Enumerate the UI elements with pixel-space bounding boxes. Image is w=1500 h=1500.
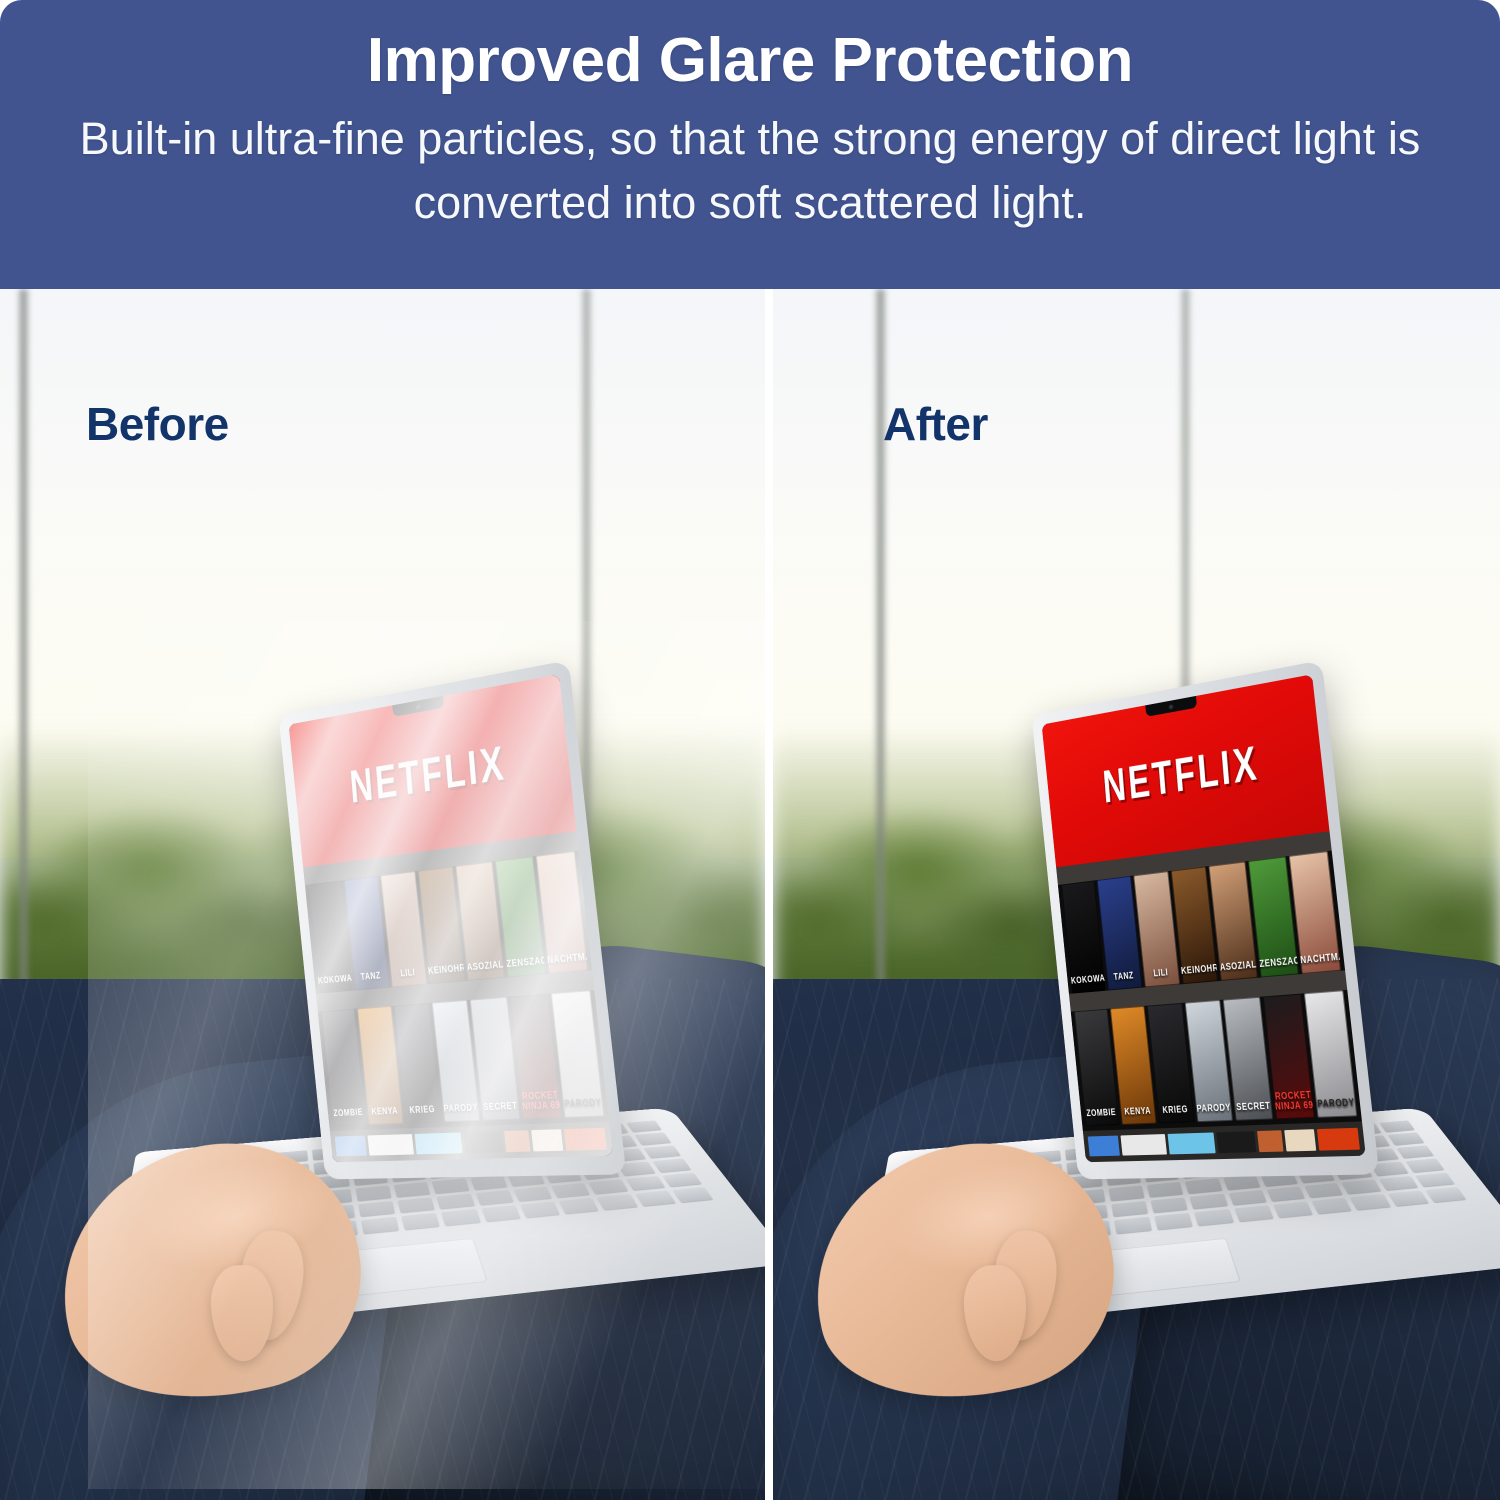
- page-subtitle: Built-in ultra-fine particles, so that t…: [50, 107, 1450, 235]
- movie-tile-label: LILI: [1143, 967, 1179, 980]
- movie-tile-label: SECRET: [481, 1101, 519, 1113]
- movie-tile-label: PARODY: [1316, 1097, 1357, 1109]
- header-banner: Improved Glare Protection Built-in ultra…: [0, 0, 1500, 289]
- screen-bezel: NETFLIX KOKOWAAH TANZ LILI KEINOHR ASOZI…: [1042, 674, 1366, 1162]
- laptop-after: NETFLIX KOKOWAAH TANZ LILI KEINOHR ASOZI…: [903, 677, 1500, 1377]
- movie-row-2: ZOMBIE KENYA KRIEG PARODY SECRET ROCKET …: [318, 990, 609, 1127]
- laptop-lid: NETFLIX KOKOWAAH TANZ LILI KEINOHR ASOZI…: [279, 660, 627, 1179]
- screen-bezel: NETFLIX KOKOWAAH TANZ LILI KEINOHR ASOZI…: [289, 674, 613, 1162]
- panel-divider: [765, 289, 773, 1500]
- movie-tile-label: TANZ: [353, 970, 388, 983]
- movie-tile-label: ZENSZACK: [506, 956, 545, 969]
- before-panel: NETFLIX KOKOWAAH TANZ LILI KEINOHR ASOZI…: [0, 289, 765, 1500]
- taskbar: [1083, 1121, 1366, 1162]
- movie-tile-label: NACHTMAHR: [1300, 952, 1340, 966]
- before-label: Before: [86, 397, 229, 451]
- netflix-screen-after: NETFLIX KOKOWAAH TANZ LILI KEINOHR ASOZI…: [1042, 674, 1366, 1162]
- movie-tile-label: KRIEG: [404, 1104, 440, 1115]
- movie-tile-label: KEINOHR: [1181, 963, 1218, 976]
- netflix-screen-before: NETFLIX KOKOWAAH TANZ LILI KEINOHR ASOZI…: [289, 674, 613, 1162]
- netflix-logo: NETFLIX: [1100, 734, 1260, 814]
- page-title: Improved Glare Protection: [367, 26, 1133, 95]
- after-panel: NETFLIX KOKOWAAH TANZ LILI KEINOHR ASOZI…: [773, 289, 1500, 1500]
- laptop-lid: NETFLIX KOKOWAAH TANZ LILI KEINOHR ASOZI…: [1032, 660, 1380, 1179]
- movie-tile-label: ZOMBIE: [1084, 1107, 1118, 1118]
- movie-tile-label: KENYA: [367, 1106, 402, 1117]
- movie-tile-label: KEINOHR: [428, 963, 465, 976]
- taskbar: [330, 1121, 613, 1162]
- movie-tile-label: KRIEG: [1157, 1104, 1193, 1115]
- movie-tile-label: NACHTMAHR: [547, 952, 587, 966]
- product-feature-image: Improved Glare Protection Built-in ultra…: [0, 0, 1500, 1500]
- movie-tile-label: SECRET: [1234, 1101, 1272, 1113]
- movie-tile-label: PARODY: [1195, 1103, 1232, 1114]
- movie-tile-label: ZOMBIE: [331, 1107, 365, 1118]
- movie-tile-label: TANZ: [1106, 970, 1141, 983]
- movie-tile-label: ROCKET NINJA 69: [520, 1090, 561, 1112]
- movie-tile-label: ZENSZACK: [1259, 956, 1298, 969]
- movie-row-2: ZOMBIE KENYA KRIEG PARODY SECRET ROCKET …: [1071, 990, 1362, 1127]
- movie-tile-label: KOKOWAAH: [1071, 974, 1105, 986]
- netflix-logo: NETFLIX: [347, 734, 507, 814]
- finger: [210, 1264, 275, 1362]
- before-after-comparison: NETFLIX KOKOWAAH TANZ LILI KEINOHR ASOZI…: [0, 289, 1500, 1500]
- movie-tile-label: ASOZIAL: [466, 960, 504, 973]
- movie-tile-label: ASOZIAL: [1219, 960, 1257, 973]
- movie-tile-label: PARODY: [563, 1097, 604, 1109]
- laptop-before: NETFLIX KOKOWAAH TANZ LILI KEINOHR ASOZI…: [150, 677, 765, 1377]
- movie-tile-label: ROCKET NINJA 69: [1273, 1090, 1314, 1112]
- movie-tile-label: LILI: [390, 967, 426, 980]
- movie-tile-label: PARODY: [442, 1103, 479, 1114]
- finger: [963, 1264, 1028, 1362]
- after-label: After: [883, 397, 988, 451]
- movie-tile-label: KENYA: [1120, 1106, 1155, 1117]
- movie-tile-label: KOKOWAAH: [318, 974, 352, 986]
